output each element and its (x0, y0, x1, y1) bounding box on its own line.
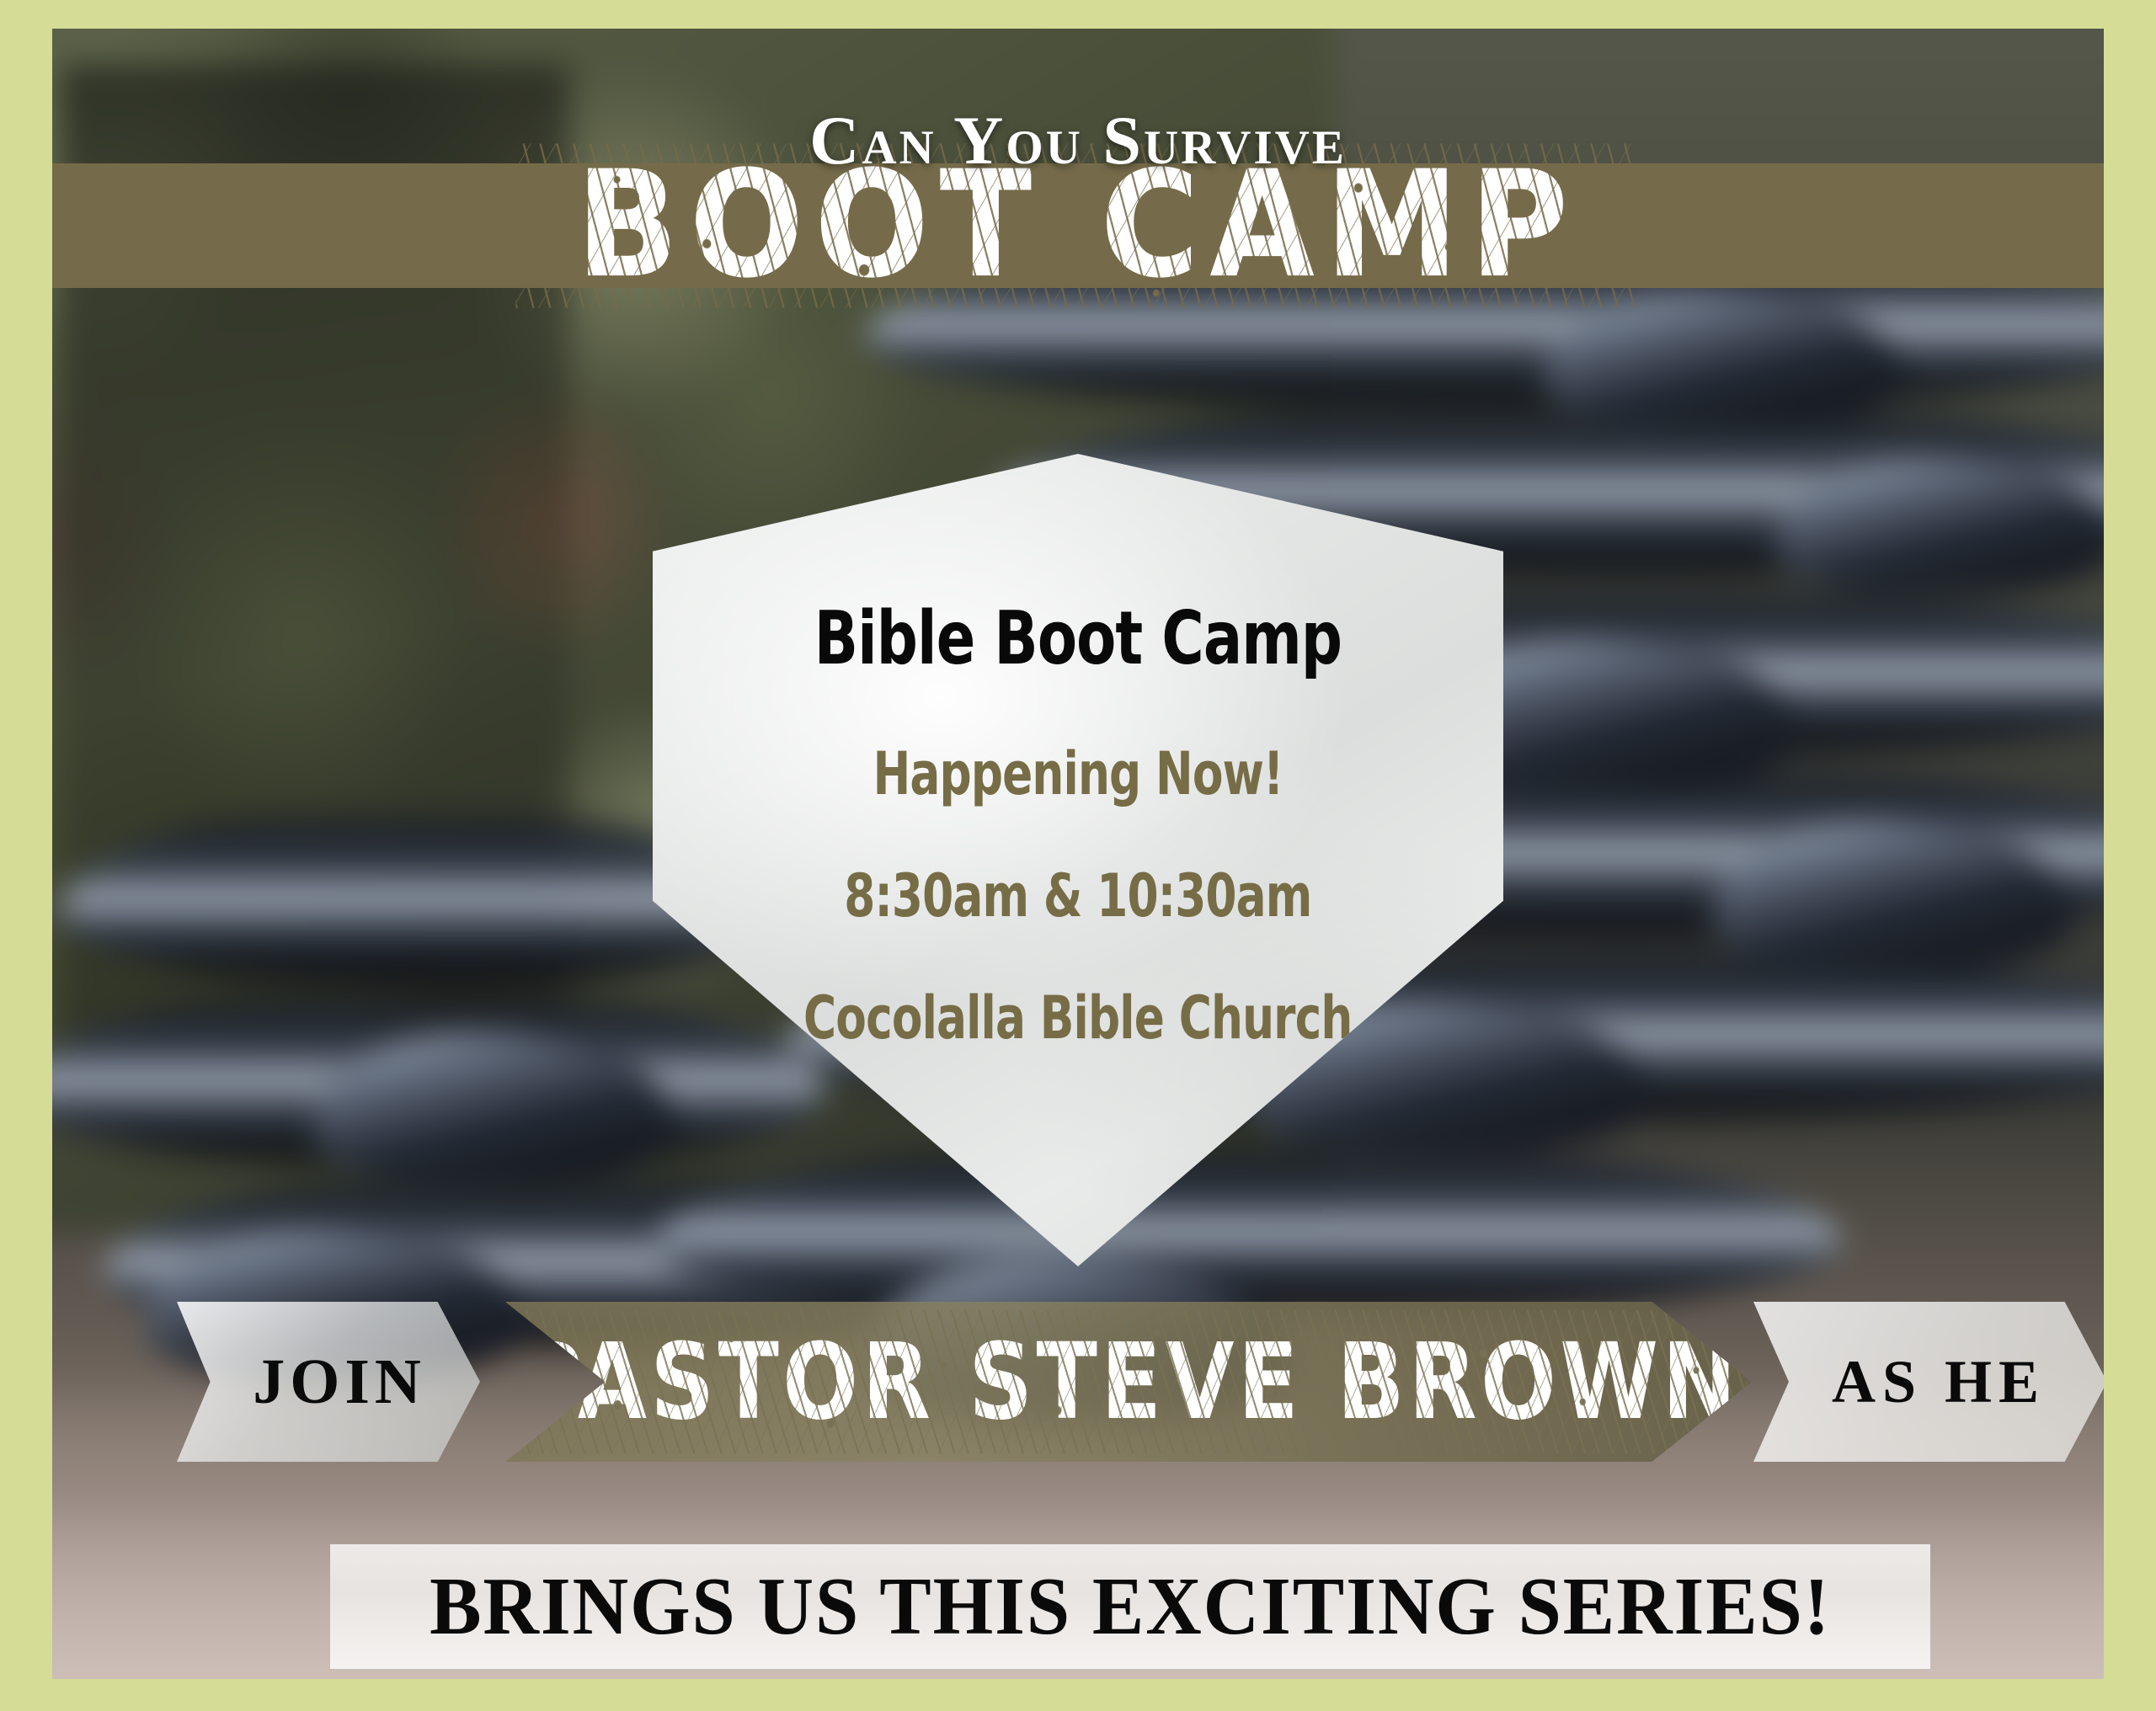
footer-label: BRINGS US THIS EXCITING SERIES! (430, 1559, 1831, 1654)
shield-title: Bible Boot Camp (814, 597, 1342, 682)
as-he-ribbon: AS HE (1753, 1302, 2104, 1462)
boot-camp-banner: BOOT CAMP (52, 163, 2104, 288)
boot-row (654, 1138, 1841, 1319)
shield-line-location: Cocolalla Bible Church (803, 983, 1352, 1053)
speaker-name-label: PASTOR STEVE BROWN (517, 1320, 1740, 1443)
join-label: JOIN (231, 1346, 426, 1419)
shield-line-status: Happening Now! (873, 738, 1283, 808)
poster-frame: Can You Survive BOOT CAMP Bible Boot Cam… (0, 0, 2156, 1711)
shield-line-times: 8:30am & 10:30am (844, 861, 1311, 930)
as-he-label: AS HE (1815, 1347, 2046, 1417)
footer-strip: BRINGS US THIS EXCITING SERIES! (330, 1544, 1930, 1669)
join-ribbon: JOIN (177, 1302, 480, 1462)
speaker-ribbon: PASTOR STEVE BROWN (505, 1302, 1752, 1462)
ribbon-row: JOIN PASTOR STEVE BROWN AS HE (52, 1302, 2104, 1462)
poster-canvas: Can You Survive BOOT CAMP Bible Boot Cam… (52, 29, 2104, 1679)
headline-kicker: Can You Survive (52, 101, 2104, 180)
